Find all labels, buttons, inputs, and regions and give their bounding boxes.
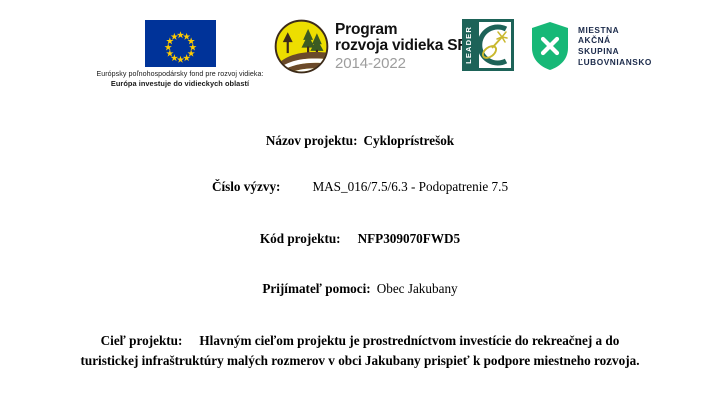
eu-caption: Európsky poľnohospodársky fond pre rozvo…: [84, 70, 276, 89]
eu-caption-line2: Európa investuje do vidieckych oblastí: [84, 79, 276, 88]
field-nazov-projektu: Názov projektu:Cykloprístrešok: [0, 132, 720, 150]
leader-logo-block: LEADER: [462, 19, 514, 71]
prv-years: 2014-2022: [335, 56, 468, 71]
eu-caption-line1: Európsky poľnohospodársky fond pre rozvo…: [84, 70, 276, 79]
field-kod-projektu-value: NFP309070FWD5: [358, 231, 461, 246]
eu-flag-icon: [145, 20, 216, 67]
field-nazov-projektu-value: Cykloprístrešok: [364, 133, 455, 148]
mas-line2: AKČNÁ: [578, 35, 652, 46]
field-prijimatel-pomoci-label: Prijímateľ pomoci:: [262, 281, 370, 296]
field-kod-projektu: Kód projektu:NFP309070FWD5: [0, 230, 720, 248]
mas-wordmark: MIESTNA AKČNÁ SKUPINA ĽUBOVNIANSKO: [578, 25, 652, 67]
prv-line1: Program: [335, 22, 468, 38]
field-cislo-vyzvy-label: Číslo výzvy:: [212, 179, 281, 194]
mas-line1: MIESTNA: [578, 25, 652, 36]
leader-vertical-label: LEADER: [464, 26, 473, 64]
mas-shield-icon: [531, 21, 569, 71]
field-nazov-projektu-label: Názov projektu:: [266, 133, 358, 148]
mas-line4: ĽUBOVNIANSKO: [578, 57, 652, 68]
project-info-body: Názov projektu:Cykloprístrešok Číslo výz…: [0, 108, 720, 370]
field-kod-projektu-label: Kód projektu:: [260, 231, 341, 246]
leader-logo-icon: LEADER: [462, 19, 514, 71]
eu-funding-block: Európsky poľnohospodársky fond pre rozvo…: [84, 20, 276, 89]
field-prijimatel-pomoci: Prijímateľ pomoci:Obec Jakubany: [0, 280, 720, 298]
prv-wordmark: Program rozvoja vidieka SR 2014-2022: [335, 22, 468, 71]
field-ciel-projektu-label: Cieľ projektu:: [101, 333, 183, 348]
logo-bar: Európsky poľnohospodársky fond pre rozvo…: [0, 0, 720, 108]
prv-circle-emblem-icon: [274, 19, 329, 74]
mas-logo-block: MIESTNA AKČNÁ SKUPINA ĽUBOVNIANSKO: [531, 20, 652, 72]
field-cislo-vyzvy-value: MAS_016/7.5/6.3 - Podopatrenie 7.5: [312, 179, 508, 194]
prv-logo-block: Program rozvoja vidieka SR 2014-2022: [274, 17, 468, 75]
field-cislo-vyzvy: Číslo výzvy:MAS_016/7.5/6.3 - Podopatren…: [0, 178, 720, 196]
eu-stars-icon: [145, 20, 216, 67]
mas-line3: SKUPINA: [578, 46, 652, 57]
field-ciel-projektu: Cieľ projektu:Hlavným cieľom projektu je…: [72, 331, 648, 370]
prv-line2: rozvoja vidieka SR: [335, 38, 468, 54]
field-prijimatel-pomoci-value: Obec Jakubany: [377, 281, 458, 296]
